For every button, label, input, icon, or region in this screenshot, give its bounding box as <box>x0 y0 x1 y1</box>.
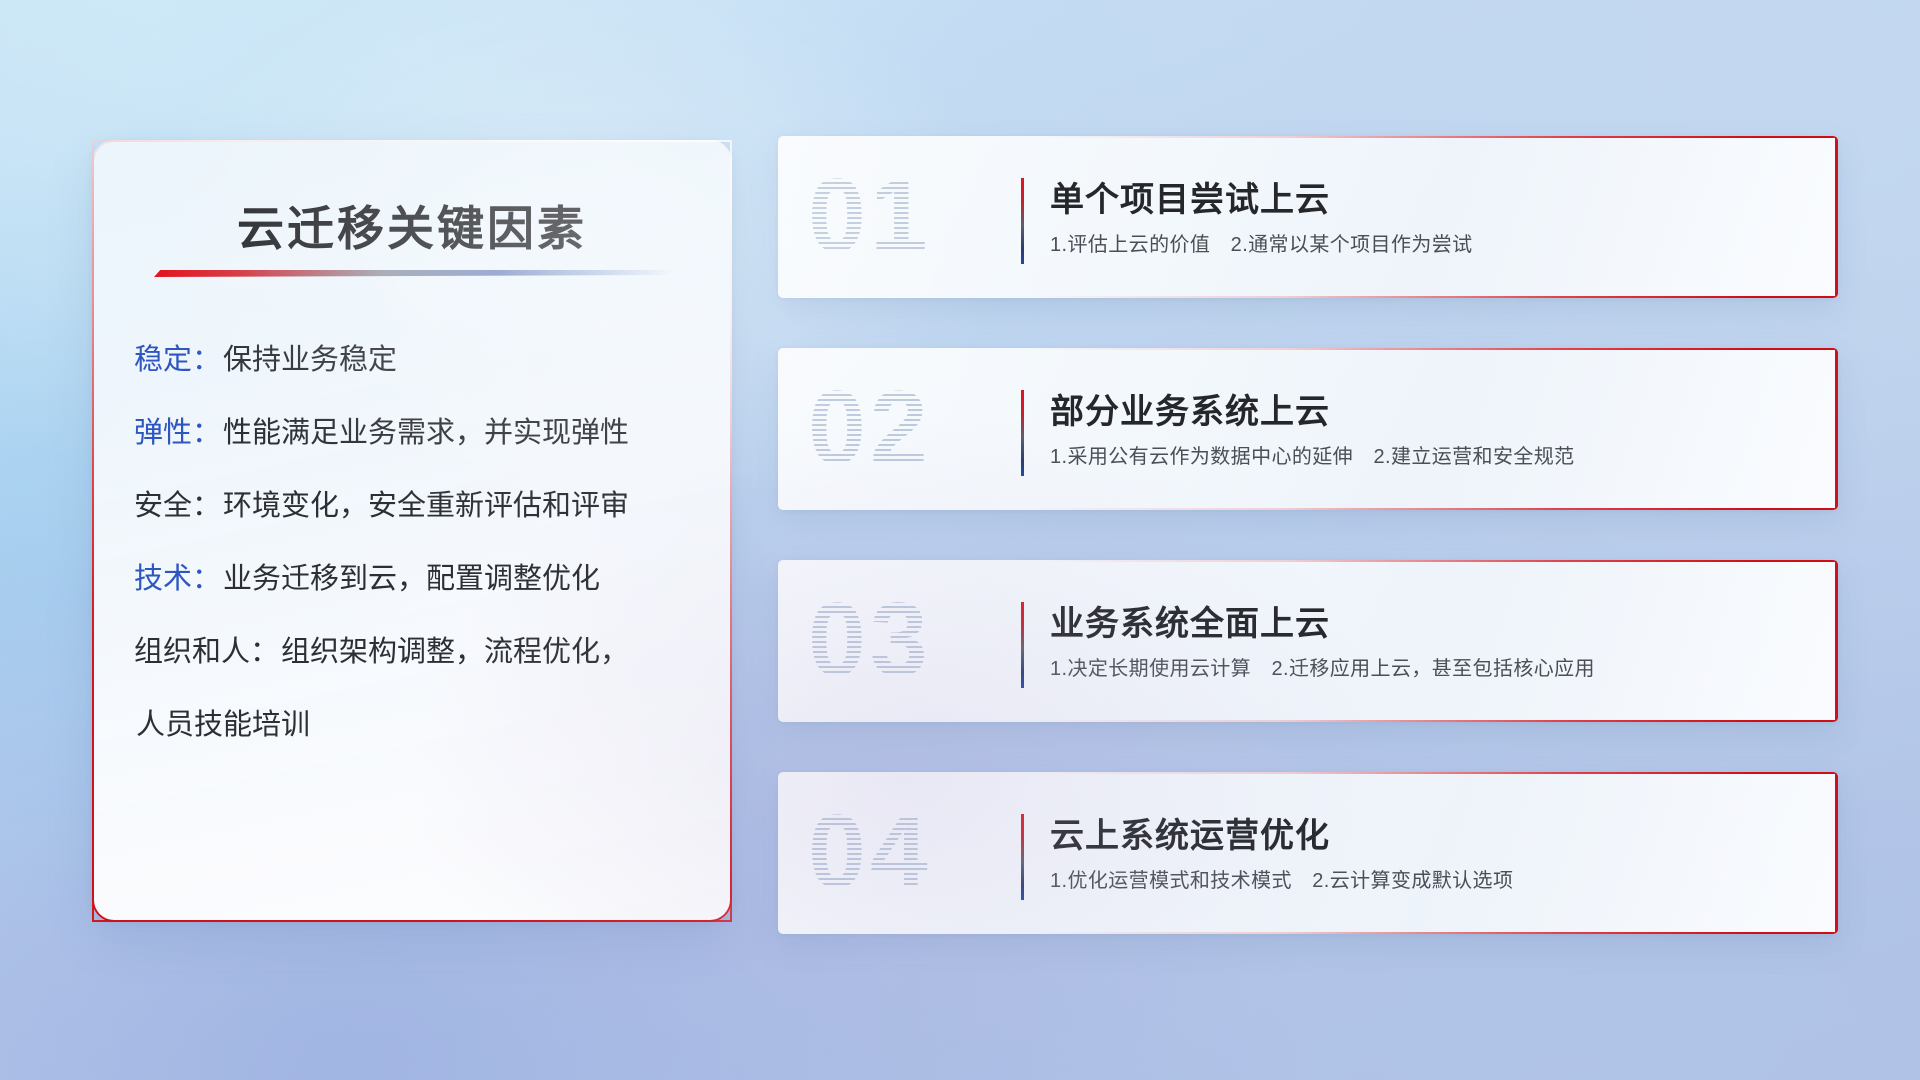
stage-title: 部分业务系统上云 <box>1050 384 1330 433</box>
stage-subtitle: 1.采用公有云作为数据中心的延伸 2.建立运营和安全规范 <box>1050 440 1575 469</box>
stage-accent-bar <box>1021 390 1024 476</box>
stage-card[interactable]: 01单个项目尝试上云1.评估上云的价值 2.通常以某个项目作为尝试 <box>778 136 1838 298</box>
factor-row: 安全：环境变化，安全重新评估和评审 <box>134 492 706 521</box>
factor-row: 人员技能培训 <box>134 711 706 740</box>
factor-key: 组织和人： <box>134 636 279 668</box>
stage-subtitle: 1.评估上云的价值 2.通常以某个项目作为尝试 <box>1050 228 1473 257</box>
stage-card-list: 01单个项目尝试上云1.评估上云的价值 2.通常以某个项目作为尝试02部分业务系… <box>778 136 1838 984</box>
stage-card-right-accent <box>1835 348 1838 510</box>
stage-accent-bar <box>1021 602 1024 688</box>
stage-title: 业务系统全面上云 <box>1050 596 1330 645</box>
factor-value: 组织架构调整，流程优化， <box>281 636 629 668</box>
stage-number: 01 <box>808 152 1008 280</box>
key-factors-list: 稳定：保持业务稳定弹性：性能满足业务需求，并实现弹性安全：环境变化，安全重新评估… <box>134 346 706 784</box>
stage-card[interactable]: 02部分业务系统上云1.采用公有云作为数据中心的延伸 2.建立运营和安全规范 <box>778 348 1838 510</box>
key-factors-panel: 云迁移关键因素 稳定：保持业务稳定弹性：性能满足业务需求，并实现弹性安全：环境变… <box>92 140 732 922</box>
stage-card-right-accent <box>1835 772 1838 934</box>
stage-card[interactable]: 03业务系统全面上云1.决定长期使用云计算 2.迁移应用上云，甚至包括核心应用 <box>778 560 1838 722</box>
stage-card[interactable]: 04云上系统运营优化1.优化运营模式和技术模式 2.云计算变成默认选项 <box>778 772 1838 934</box>
page-title: 云迁移关键因素 <box>94 190 730 259</box>
stage-accent-bar <box>1021 814 1024 900</box>
slide-canvas: 云迁移关键因素 稳定：保持业务稳定弹性：性能满足业务需求，并实现弹性安全：环境变… <box>0 0 1920 1080</box>
stage-number: 04 <box>808 788 1008 916</box>
stage-title: 云上系统运营优化 <box>1050 808 1330 857</box>
stage-card-right-accent <box>1835 136 1838 298</box>
factor-row: 组织和人：组织架构调整，流程优化， <box>134 638 706 667</box>
stage-title: 单个项目尝试上云 <box>1050 172 1330 221</box>
factor-value: 环境变化，安全重新评估和评审 <box>223 490 629 522</box>
stage-subtitle: 1.优化运营模式和技术模式 2.云计算变成默认选项 <box>1050 864 1513 893</box>
factor-row: 稳定：保持业务稳定 <box>134 346 706 375</box>
factor-row: 技术：业务迁移到云，配置调整优化 <box>134 565 706 594</box>
factor-key: 技术： <box>134 563 221 595</box>
stage-card-right-accent <box>1835 560 1838 722</box>
stage-number: 02 <box>808 364 1008 492</box>
factor-value: 人员技能培训 <box>136 709 310 741</box>
stage-number: 03 <box>808 576 1008 704</box>
factor-value: 业务迁移到云，配置调整优化 <box>223 563 600 595</box>
factor-value: 性能满足业务需求，并实现弹性 <box>223 417 629 449</box>
factor-row: 弹性：性能满足业务需求，并实现弹性 <box>134 419 706 448</box>
factor-key: 弹性： <box>134 417 221 449</box>
title-underline-rule <box>154 270 674 277</box>
factor-key: 安全： <box>134 490 221 522</box>
stage-accent-bar <box>1021 178 1024 264</box>
factor-key: 稳定： <box>134 344 221 376</box>
stage-subtitle: 1.决定长期使用云计算 2.迁移应用上云，甚至包括核心应用 <box>1050 652 1595 681</box>
factor-value: 保持业务稳定 <box>223 344 397 376</box>
